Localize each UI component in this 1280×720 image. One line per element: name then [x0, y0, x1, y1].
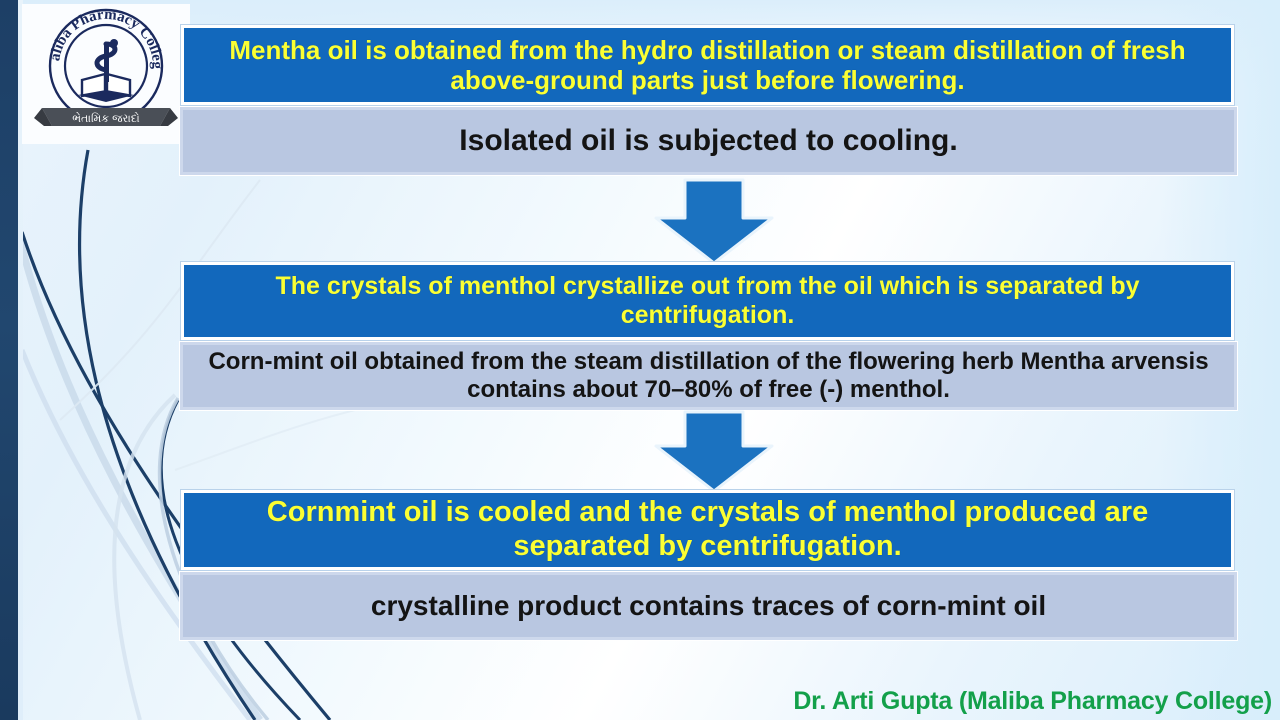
slide-canvas: Maliba Pharmacy College ભેતામિક જરાદો Me… [0, 0, 1280, 720]
flow-step-5-blue-box: Cornmint oil is cooled and the crystals … [181, 490, 1234, 570]
flow-step-2-text: Isolated oil is subjected to cooling. [183, 123, 1234, 158]
flow-step-4-grey-box: Corn-mint oil obtained from the steam di… [180, 342, 1237, 410]
down-arrow-icon-1 [652, 178, 776, 266]
flow-step-6-text: crystalline product contains traces of c… [183, 590, 1234, 623]
flow-step-1-text: Mentha oil is obtained from the hydro di… [184, 35, 1231, 96]
flow-step-2-grey-box: Isolated oil is subjected to cooling. [180, 107, 1237, 175]
flow-step-4-text: Corn-mint oil obtained from the steam di… [183, 348, 1234, 404]
flow-step-5-text: Cornmint oil is cooled and the crystals … [184, 496, 1231, 564]
down-arrow-icon-2 [652, 410, 776, 494]
left-accent-bar [0, 0, 18, 720]
flow-step-6-grey-box: crystalline product contains traces of c… [180, 572, 1237, 640]
author-credit: Dr. Arti Gupta (Maliba Pharmacy College) [793, 687, 1272, 716]
flow-step-3-text: The crystals of menthol crystallize out … [184, 272, 1231, 331]
college-logo: Maliba Pharmacy College ભેતામિક જરાદો [22, 4, 190, 144]
logo-ribbon-text: ભેતામિક જરાદો [72, 112, 140, 125]
flow-step-1-blue-box: Mentha oil is obtained from the hydro di… [181, 25, 1234, 105]
flow-step-3-blue-box: The crystals of menthol crystallize out … [181, 262, 1234, 340]
